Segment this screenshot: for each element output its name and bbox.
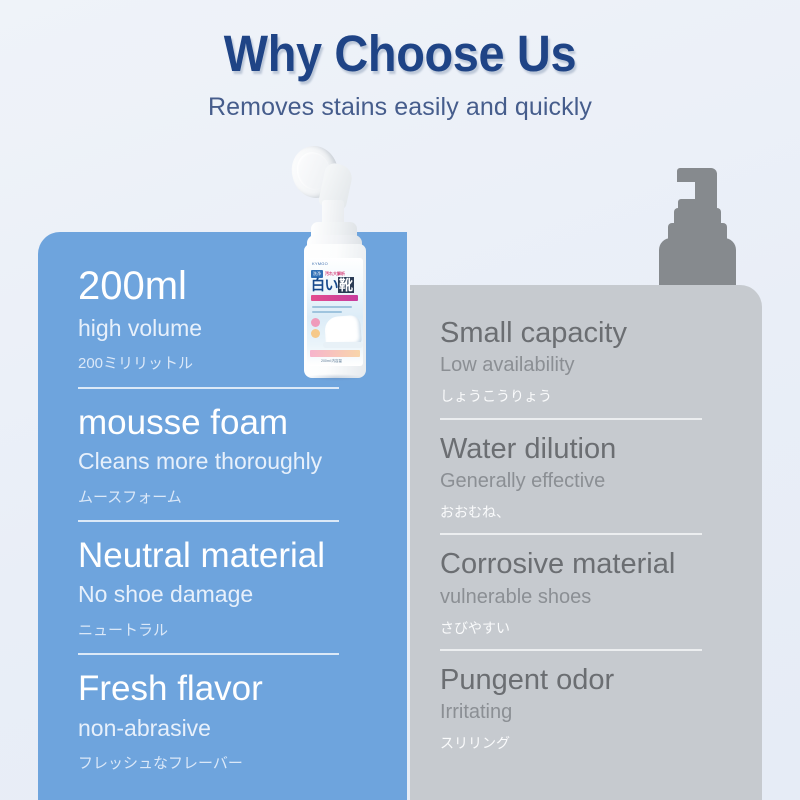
page-subtitle: Removes stains easily and quickly <box>0 83 800 122</box>
label-text-line <box>312 311 342 313</box>
drawback-item: Water dilution Generally effective おおむね、 <box>440 433 732 522</box>
benefit-divider <box>78 387 339 389</box>
benefit-subtitle: non-abrasive <box>78 709 377 743</box>
benefit-title: Neutral material <box>78 536 377 575</box>
drawback-title: Small capacity <box>440 317 732 349</box>
benefit-divider <box>78 653 339 655</box>
drawback-subtitle: Irritating <box>440 696 732 724</box>
drawback-item: Small capacity Low availability しょうこうりょう <box>440 317 732 406</box>
drawback-divider <box>440 649 702 651</box>
bottle-label: KYMGO 洗浄 汚れ大解析 白い靴 200ml 内容量 <box>307 258 363 366</box>
label-badge-pink <box>311 318 320 327</box>
drawback-divider <box>440 533 702 535</box>
drawback-divider <box>440 418 702 420</box>
label-brand: KYMGO <box>312 261 328 266</box>
label-footer-band <box>310 350 360 357</box>
drawback-item: Corrosive material vulnerable shoes さびやす… <box>440 548 732 637</box>
label-shoe-sole <box>323 342 363 348</box>
drawback-title: Water dilution <box>440 433 732 465</box>
benefit-subtitle: Cleans more thoroughly <box>78 442 377 476</box>
drawback-japanese: しょうこうりょう <box>440 377 732 405</box>
drawback-title: Corrosive material <box>440 548 732 580</box>
label-pink-band <box>311 295 358 301</box>
benefit-divider <box>78 520 339 522</box>
drawback-japanese: さびやすい <box>440 609 732 637</box>
label-badge-orange <box>311 329 320 338</box>
label-text-line <box>312 306 352 308</box>
benefit-title: Fresh flavor <box>78 669 377 708</box>
drawback-item: Pungent odor Irritating スリリング <box>440 664 732 753</box>
benefit-japanese: ニュートラル <box>78 609 377 641</box>
header: Why Choose Us Removes stains easily and … <box>0 0 800 122</box>
page-title: Why Choose Us <box>32 0 768 83</box>
benefit-japanese: ムースフォーム <box>78 476 377 508</box>
drawback-subtitle: vulnerable shoes <box>440 581 732 609</box>
benefit-japanese: フレッシュなフレーバー <box>78 742 377 774</box>
label-headline-dark: 靴 <box>338 277 354 293</box>
drawback-subtitle: Generally effective <box>440 465 732 493</box>
drawback-japanese: スリリング <box>440 724 732 752</box>
bottle-shadow <box>306 374 364 381</box>
benefit-item: Neutral material No shoe damage ニュートラル <box>78 536 377 640</box>
drawback-title: Pungent odor <box>440 664 732 696</box>
benefit-title: mousse foam <box>78 403 377 442</box>
label-bottom-text: 200ml 内容量 <box>321 359 342 364</box>
label-headline-light: 白い <box>311 277 338 293</box>
foaming-shoe-cleaner-bottle: KYMGO 洗浄 汚れ大解析 白い靴 200ml 内容量 <box>286 142 390 384</box>
benefit-item: mousse foam Cleans more thoroughly ムースフォ… <box>78 403 377 507</box>
benefit-item: Fresh flavor non-abrasive フレッシュなフレーバー <box>78 669 377 773</box>
label-headline: 白い靴 <box>311 278 354 292</box>
infographic-canvas: Why Choose Us Removes stains easily and … <box>0 0 800 800</box>
benefit-subtitle: No shoe damage <box>78 575 377 609</box>
drawback-subtitle: Low availability <box>440 349 732 377</box>
drawbacks-panel: Small capacity Low availability しょうこうりょう… <box>410 285 762 800</box>
drawback-japanese: おおむね、 <box>440 493 732 521</box>
